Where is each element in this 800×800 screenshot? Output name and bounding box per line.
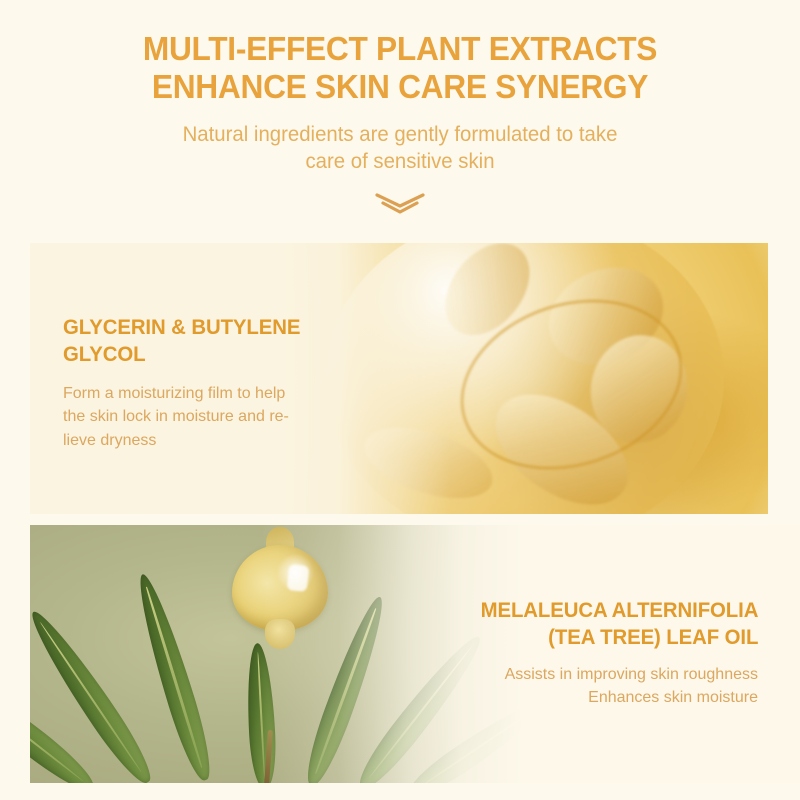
glycerin-title: GLYCERIN & BUTYLENE GLYCOL: [63, 315, 300, 369]
glycerin-desc-line-1: Form a moisturizing film to help: [63, 382, 308, 406]
tea-tree-description: Assists in improving skin roughness Enha…: [472, 663, 758, 710]
page-subtitle: Natural ingredients are gently formulate…: [12, 121, 788, 176]
glycerin-title-line-2: GLYCOL: [63, 342, 300, 369]
tea-tree-desc-line-2: Enhances skin moisture: [472, 686, 758, 710]
glycerin-title-line-1: GLYCERIN & BUTYLENE: [63, 315, 300, 342]
tea-tree-text-block: MELALEUCA ALTERNIFOLIA (TEA TREE) LEAF O…: [472, 598, 758, 710]
ingredient-card-glycerin: GLYCERIN & BUTYLENE GLYCOL Form a moistu…: [30, 243, 768, 514]
tea-tree-title: MELALEUCA ALTERNIFOLIA (TEA TREE) LEAF O…: [480, 598, 758, 652]
glycerin-description: Form a moisturizing film to help the ski…: [63, 382, 308, 453]
tea-tree-title-line-2: (TEA TREE) LEAF OIL: [480, 625, 758, 652]
ingredient-card-tea-tree: MELALEUCA ALTERNIFOLIA (TEA TREE) LEAF O…: [30, 525, 800, 783]
page-title-line-1: MULTI-EFFECT PLANT EXTRACTS: [102, 30, 697, 68]
glycerin-desc-line-3: lieve dryness: [63, 429, 308, 453]
tea-tree-desc-line-1: Assists in improving skin roughness: [472, 663, 758, 687]
page-subtitle-line-1: Natural ingredients are gently formulate…: [12, 121, 788, 149]
page-header: MULTI-EFFECT PLANT EXTRACTS ENHANCE SKIN…: [0, 0, 800, 176]
glycerin-desc-line-2: the skin lock in moisture and re-: [63, 405, 308, 429]
section-divider: [0, 182, 800, 226]
glycerin-text-block: GLYCERIN & BUTYLENE GLYCOL Form a moistu…: [63, 315, 308, 453]
page-title-line-2: ENHANCE SKIN CARE SYNERGY: [102, 68, 697, 106]
tea-tree-title-line-1: MELALEUCA ALTERNIFOLIA: [480, 598, 758, 625]
double-chevron-down-icon: [374, 191, 426, 217]
page-subtitle-line-2: care of sensitive skin: [12, 148, 788, 176]
page-title: MULTI-EFFECT PLANT EXTRACTS ENHANCE SKIN…: [102, 30, 697, 107]
